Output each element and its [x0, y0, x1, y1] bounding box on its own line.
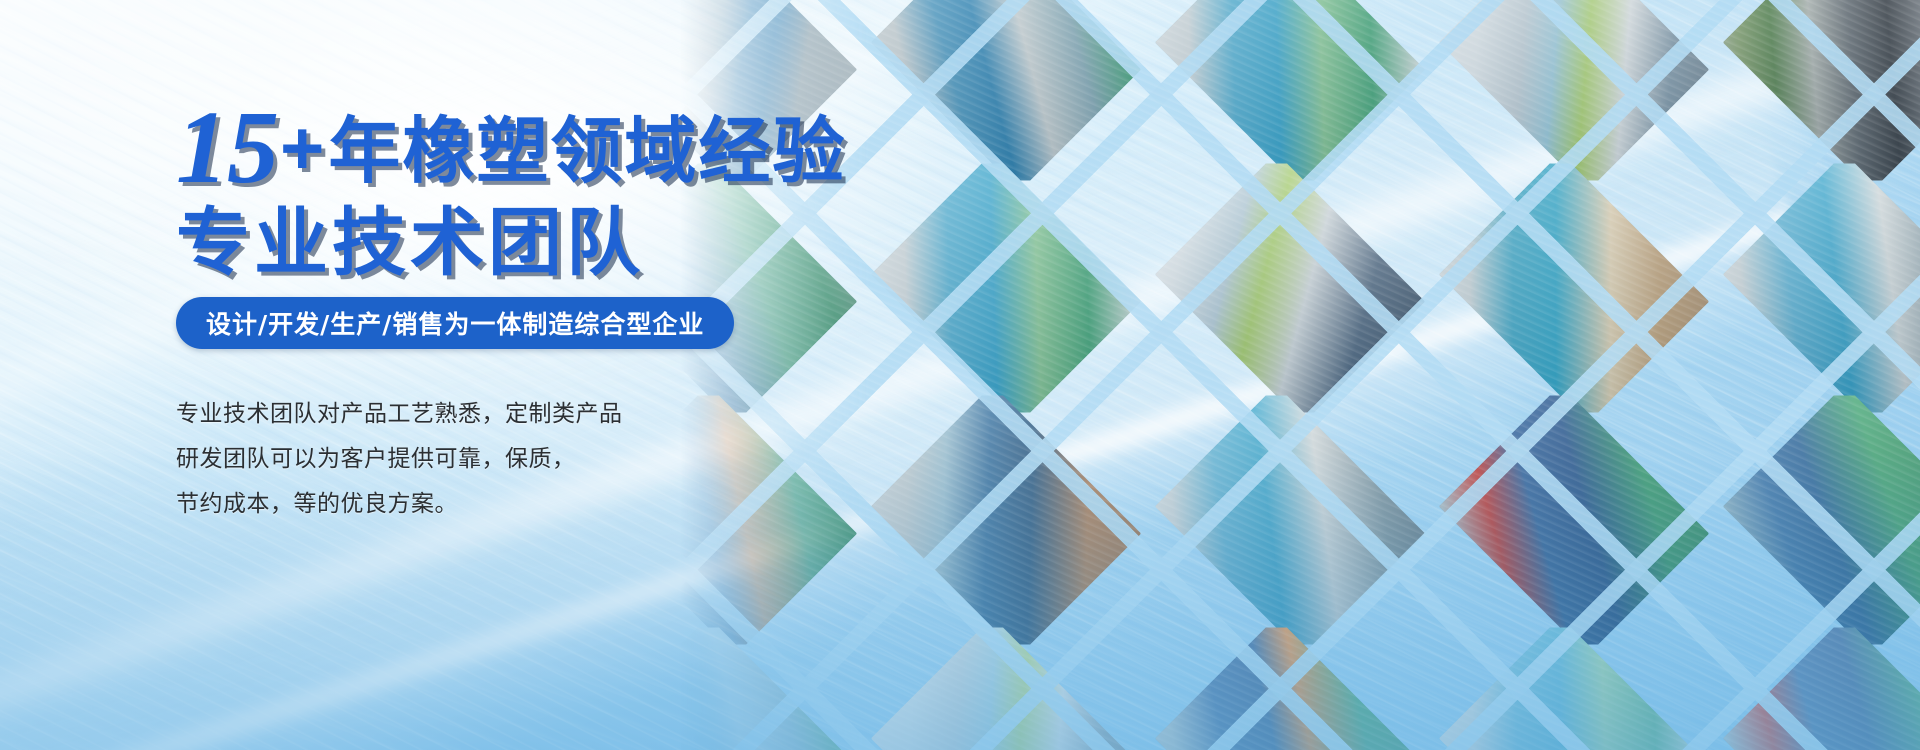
headline-line-1-text: 年橡塑领域经验: [328, 109, 846, 193]
headline-line-2: 专业技术团队: [176, 206, 916, 280]
plus-symbol: +: [280, 106, 324, 191]
headline-line-2-text: 专业技术团队: [176, 200, 644, 286]
description-line-1: 专业技术团队对产品工艺熟悉，定制类产品: [176, 392, 736, 437]
tagline-badge: 设计/开发/生产/销售为一体制造综合型企业: [176, 297, 734, 349]
collage-tile-inspection-area-workbench: [1155, 0, 1425, 191]
collage-tile-worker-operating-terminal: [1723, 153, 1920, 423]
promo-banner: 15+年橡塑领域经验 专业技术团队 设计/开发/生产/销售为一体制造综合型企业 …: [0, 0, 1920, 750]
description-line-2: 研发团队可以为客户提供可靠，保质，: [176, 437, 736, 482]
collage-tile-office-desk-monitors: [1155, 153, 1425, 423]
description-paragraph: 专业技术团队对产品工艺熟悉，定制类产品 研发团队可以为客户提供可靠，保质， 节约…: [176, 392, 736, 527]
collage-tile-open-plan-office-workstations: [1439, 0, 1709, 191]
headline-line-1: 15+年橡塑领域经验: [176, 96, 916, 200]
collage-tile-employee-queue-courtyard: [1723, 0, 1920, 191]
collage-tile-company-reception-lobby: [1439, 153, 1709, 423]
description-line-3: 节约成本，等的优良方案。: [176, 482, 736, 527]
years-number: 15: [176, 90, 278, 205]
headline: 15+年橡塑领域经验 专业技术团队: [176, 96, 916, 280]
copy-block: 15+年橡塑领域经验 专业技术团队 设计/开发/生产/销售为一体制造综合型企业 …: [0, 0, 780, 750]
